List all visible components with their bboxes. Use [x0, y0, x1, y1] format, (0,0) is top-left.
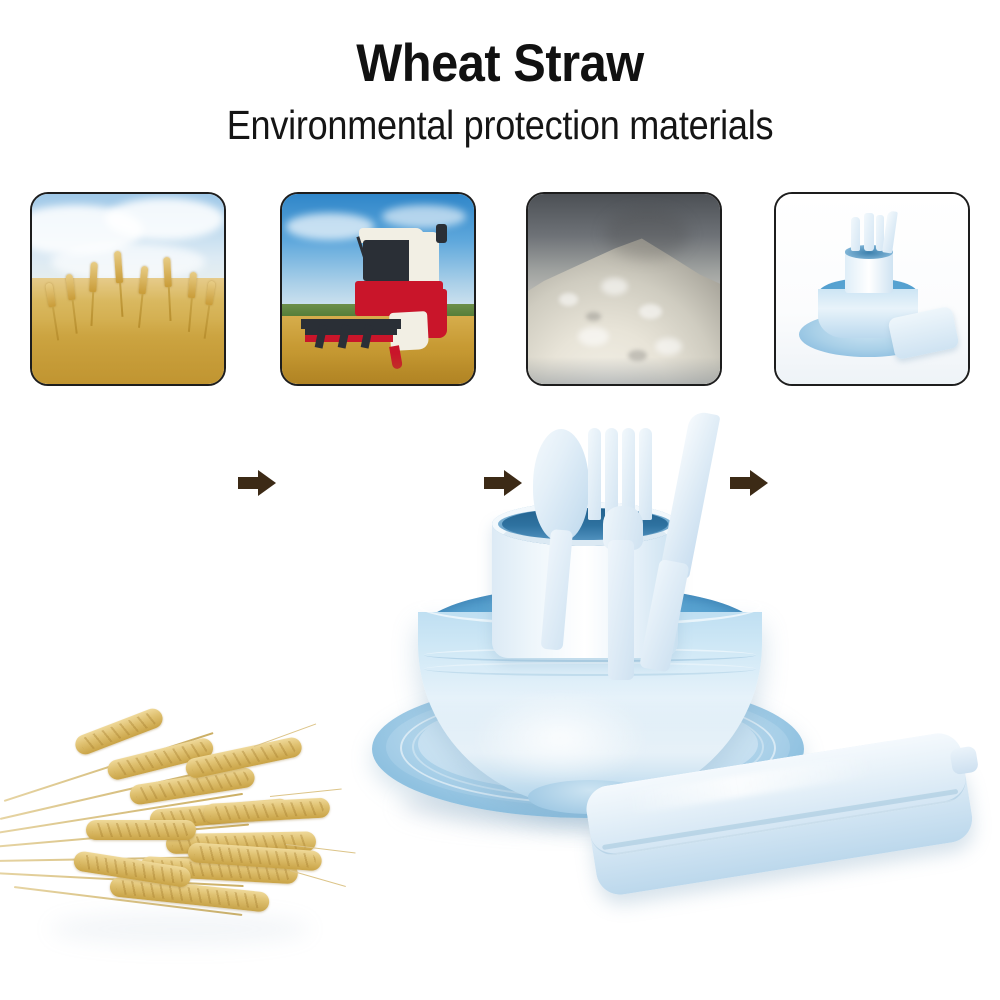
- process-step-straw-powder[interactable]: [526, 192, 722, 386]
- process-step-harvesting[interactable]: [280, 192, 476, 386]
- infographic-page: Wheat Straw Environmental protection mat…: [0, 0, 1000, 1000]
- process-step-wheat-field[interactable]: [30, 192, 226, 386]
- straw-powder-image: [528, 194, 720, 384]
- page-title: Wheat Straw: [40, 36, 960, 92]
- process-step-finished-tableware[interactable]: [774, 192, 970, 386]
- bowl-highlight: [470, 690, 650, 786]
- wheat-bundle-decor: [0, 700, 370, 980]
- wheat-field-image: [32, 194, 224, 384]
- bowl-ridge: [424, 662, 756, 676]
- page-subtitle: Environmental protection materials: [60, 102, 940, 149]
- process-strip: [0, 192, 1000, 388]
- harvester-image: [282, 194, 474, 384]
- product-spoon: [533, 429, 589, 541]
- finished-tableware-image: [776, 194, 968, 384]
